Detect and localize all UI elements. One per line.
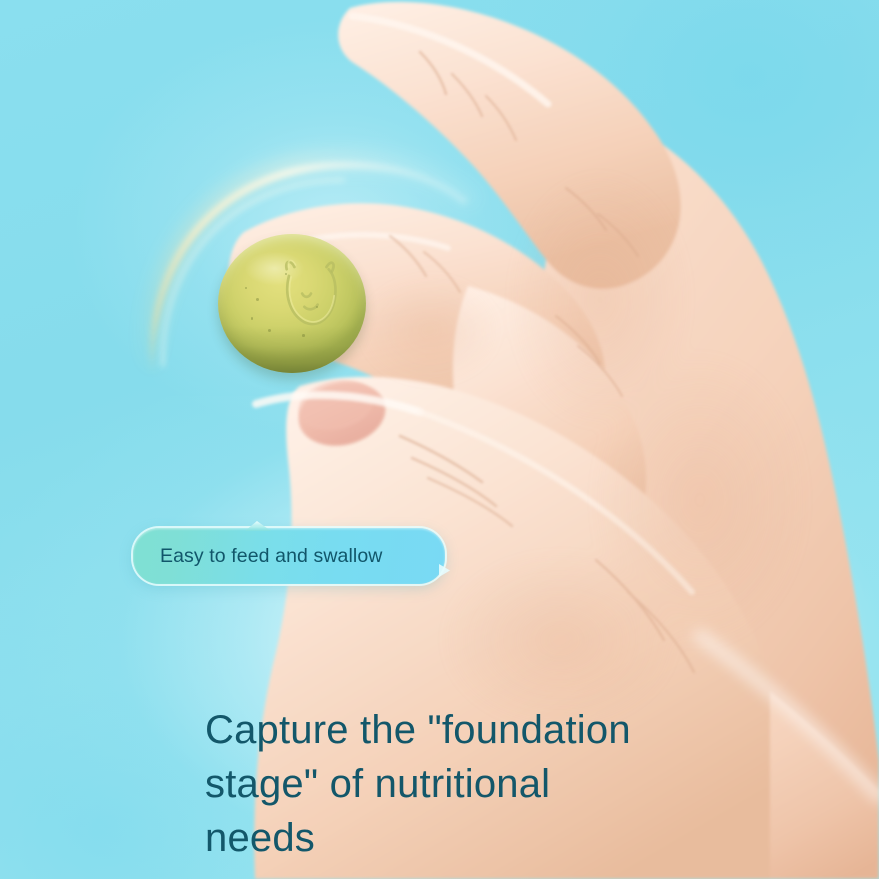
feature-badge: Easy to feed and swallow	[133, 528, 445, 584]
promo-image-canvas: Easy to feed and swallow Capture the "fo…	[0, 0, 879, 879]
tablet-emboss-animal-face	[274, 256, 344, 342]
feature-badge-label: Easy to feed and swallow	[160, 545, 382, 568]
headline-line-3: needs	[205, 811, 805, 865]
headline-line-2: stage" of nutritional	[205, 757, 805, 811]
headline-line-1: Capture the "foundation	[205, 703, 805, 757]
chewable-tablet	[218, 234, 366, 373]
page-title: Capture the "foundation stage" of nutrit…	[205, 703, 805, 865]
